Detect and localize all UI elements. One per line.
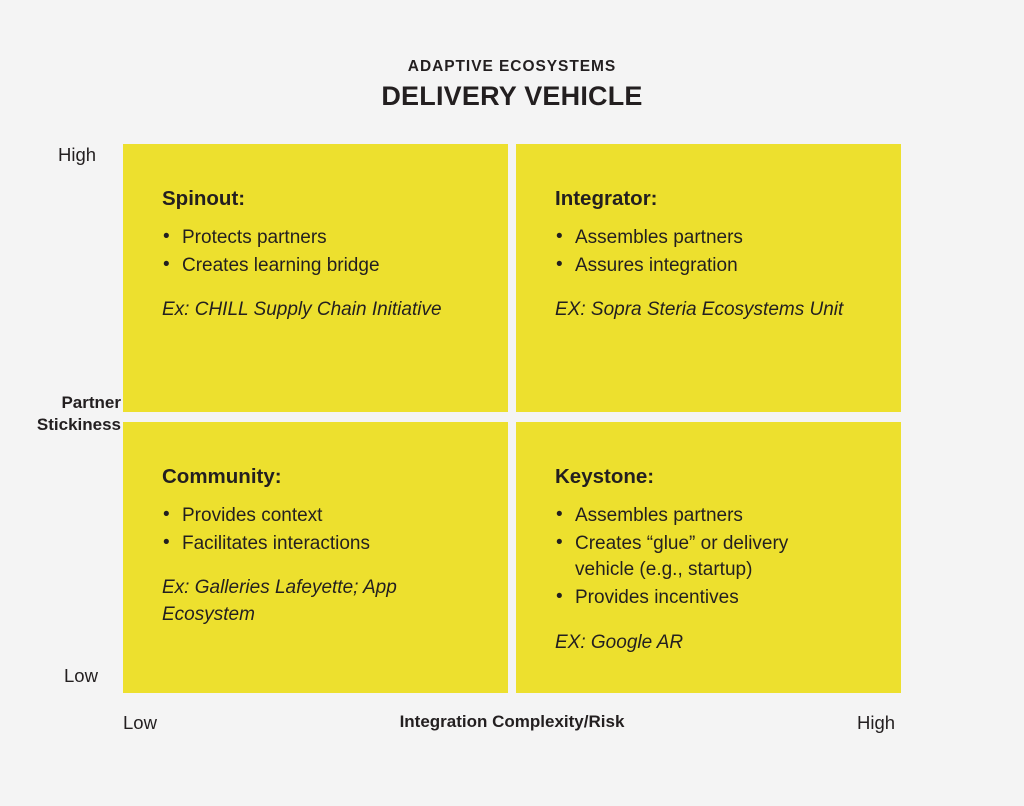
quadrant-bullet-list: Assembles partners Assures integration bbox=[555, 225, 875, 280]
x-axis-title: Integration Complexity/Risk bbox=[123, 712, 901, 732]
y-axis-title-line1: Partner bbox=[61, 393, 121, 412]
y-axis-title: Partner Stickiness bbox=[0, 392, 121, 436]
y-axis-low-label: Low bbox=[64, 665, 98, 687]
list-item: Provides context bbox=[162, 503, 482, 530]
list-item: Creates “glue” or delivery vehicle (e.g.… bbox=[555, 531, 850, 585]
y-axis-high-label: High bbox=[58, 144, 96, 166]
list-item: Facilitates interactions bbox=[162, 531, 482, 558]
quadrant-community: Community: Provides context Facilitates … bbox=[123, 422, 508, 693]
list-item: Creates learning bridge bbox=[162, 253, 482, 280]
list-item: Assures integration bbox=[555, 253, 875, 280]
quadrant-bullet-list: Protects partners Creates learning bridg… bbox=[162, 225, 482, 280]
quadrant-matrix: Spinout: Protects partners Creates learn… bbox=[123, 144, 901, 693]
quadrant-title: Integrator: bbox=[555, 188, 875, 211]
quadrant-example: Ex: Galleries Lafeyette; App Ecosystem bbox=[162, 575, 397, 629]
list-item: Assembles partners bbox=[555, 503, 875, 530]
subtitle-eyebrow: ADAPTIVE ECOSYSTEMS bbox=[0, 58, 1024, 75]
quadrant-keystone: Keystone: Assembles partners Creates “gl… bbox=[516, 422, 901, 693]
list-item: Provides incentives bbox=[555, 585, 875, 612]
quadrant-integrator: Integrator: Assembles partners Assures i… bbox=[516, 144, 901, 412]
quadrant-spinout: Spinout: Protects partners Creates learn… bbox=[123, 144, 508, 412]
quadrant-example: Ex: CHILL Supply Chain Initiative bbox=[162, 297, 482, 324]
quadrant-bullet-list: Provides context Facilitates interaction… bbox=[162, 503, 482, 558]
quadrant-title: Keystone: bbox=[555, 466, 875, 489]
quadrant-bullet-list: Assembles partners Creates “glue” or del… bbox=[555, 503, 875, 613]
page-title: DELIVERY VEHICLE bbox=[0, 82, 1024, 112]
y-axis-title-line2: Stickiness bbox=[37, 415, 121, 434]
quadrant-title: Spinout: bbox=[162, 188, 482, 211]
list-item: Protects partners bbox=[162, 225, 482, 252]
quadrant-example: EX: Google AR bbox=[555, 630, 875, 657]
list-item: Assembles partners bbox=[555, 225, 875, 252]
title-block: ADAPTIVE ECOSYSTEMS DELIVERY VEHICLE bbox=[0, 58, 1024, 112]
quadrant-example: EX: Sopra Steria Ecosystems Unit bbox=[555, 297, 875, 324]
quadrant-title: Community: bbox=[162, 466, 482, 489]
